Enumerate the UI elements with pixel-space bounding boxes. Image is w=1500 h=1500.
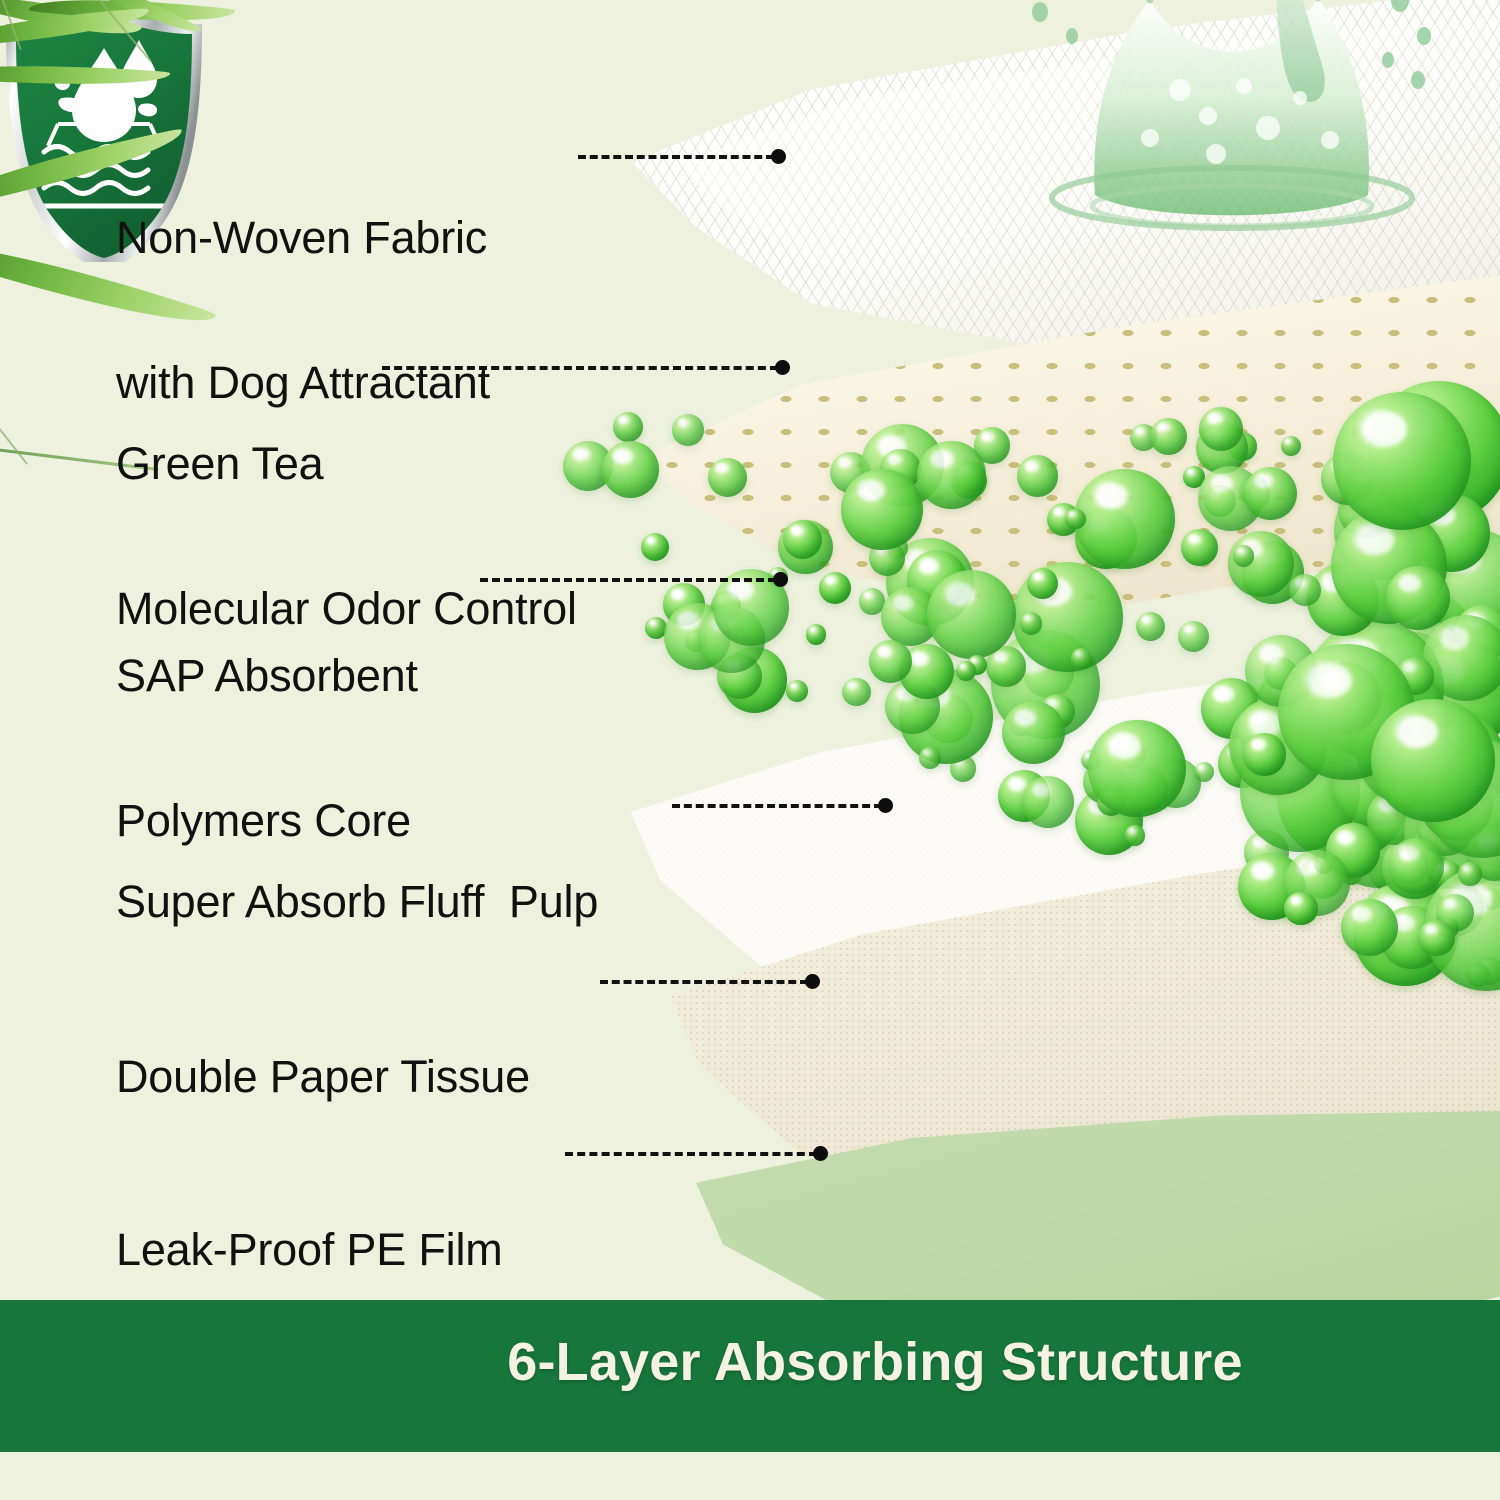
sap-bead (1284, 892, 1318, 926)
sap-bead (1125, 825, 1145, 845)
sap-bead (1388, 838, 1444, 894)
leader-line-paper-tissue (600, 980, 808, 984)
infographic-canvas: Non-Woven Fabric with Dog Attractant Gre… (0, 0, 1500, 1500)
banner-headline: 6-Layer Absorbing Structure (380, 1331, 1370, 1393)
sap-bead (1199, 407, 1243, 451)
layer-label-line1: Double Paper Tissue (116, 1053, 530, 1101)
sap-bead (1458, 862, 1481, 885)
sap-bead (786, 680, 808, 702)
sap-bead (1181, 529, 1217, 565)
leader-line-non-woven-fabric (578, 155, 774, 159)
sap-bead (819, 572, 851, 604)
sap-bead (1418, 920, 1455, 957)
layer-label-line1: Leak-Proof PE Film (116, 1226, 503, 1274)
sap-bead (806, 624, 826, 644)
sap-bead (1150, 418, 1187, 455)
sap-bead (1065, 509, 1086, 530)
sap-bead (842, 678, 871, 707)
sap-bead (613, 412, 643, 442)
leader-dot-sap-core (773, 572, 788, 587)
leader-line-pe-film (565, 1152, 817, 1156)
sap-bead (1178, 621, 1209, 652)
leader-dot-fluff-pulp (878, 798, 893, 813)
sap-bead (641, 533, 669, 561)
layer-label-line1: Super Absorb Fluff Pulp (116, 878, 598, 926)
sap-bead (1136, 612, 1165, 641)
sap-bead (1088, 720, 1186, 818)
sap-bead (1074, 469, 1174, 569)
sap-bead (1333, 392, 1471, 530)
sap-bead (1194, 762, 1214, 782)
sap-bead (1017, 455, 1059, 497)
leader-dot-green-tea (775, 360, 790, 375)
sap-bead (919, 747, 941, 769)
sap-bead (841, 469, 923, 551)
sap-bead (1022, 776, 1074, 828)
sap-bead (1281, 436, 1301, 456)
sap-bead (672, 414, 703, 445)
leader-dot-pe-film (813, 1146, 828, 1161)
sap-bead (1289, 574, 1321, 606)
layer-label-line1: Green Tea (116, 440, 577, 488)
layer-label-line1: Non-Woven Fabric (116, 214, 490, 262)
leader-dot-non-woven-fabric (771, 149, 786, 164)
sap-bead (602, 441, 659, 498)
sap-bead (1002, 701, 1065, 764)
sap-bead (917, 441, 985, 509)
sap-bead (1341, 899, 1398, 956)
sap-bead (1371, 699, 1494, 822)
sap-bead (1244, 467, 1297, 520)
sap-bead (956, 661, 976, 681)
sap-bead (1233, 545, 1255, 567)
sap-bead (708, 458, 747, 497)
layer-label-line1: SAP Absorbent (116, 652, 418, 700)
sap-bead (1243, 733, 1286, 776)
sap-bead (927, 570, 1016, 659)
leader-dot-paper-tissue (805, 974, 820, 989)
sap-bead-cluster-icon (540, 420, 1500, 940)
sap-bead (1071, 648, 1092, 669)
sap-bead (1386, 566, 1450, 630)
leader-line-fluff-pulp (672, 804, 882, 808)
water-splash-icon (1000, 0, 1480, 270)
